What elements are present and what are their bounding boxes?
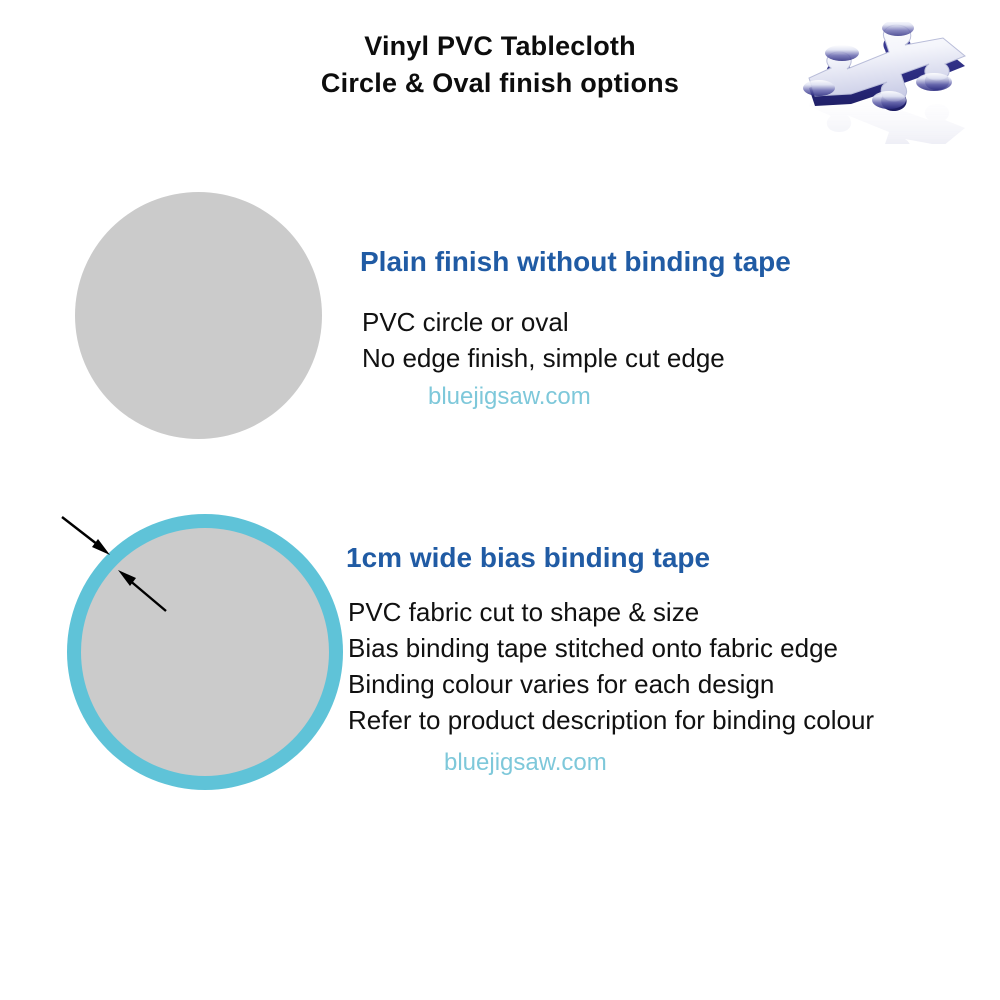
watermark-bluejigsaw-binding: bluejigsaw.com	[444, 748, 874, 778]
section-binding-body-line-1: PVC fabric cut to shape & size	[348, 594, 874, 630]
section-plain-body-line-1: PVC circle or oval	[362, 304, 791, 340]
puzzle-knob-bottom-left	[872, 91, 906, 109]
puzzle-knob-bottom-right	[916, 73, 952, 91]
section-binding-body-line-3: Binding colour varies for each design	[348, 666, 874, 702]
section-bias-binding: 1cm wide bias binding tape PVC fabric cu…	[344, 542, 874, 778]
section-plain-body: PVC circle or oval No edge finish, simpl…	[362, 304, 791, 376]
section-binding-body: PVC fabric cut to shape & size Bias bind…	[348, 594, 874, 738]
poster-canvas: Vinyl PVC Tablecloth Circle & Oval finis…	[0, 0, 1000, 1000]
section-plain-finish: Plain finish without binding tape PVC ci…	[356, 246, 791, 412]
arrow-to-binding-tape	[62, 517, 110, 555]
puzzle-knob-left	[803, 80, 835, 96]
arrow-to-fabric-edge	[118, 570, 166, 611]
puzzle-piece-icon	[793, 22, 981, 144]
watermark-bluejigsaw-plain: bluejigsaw.com	[428, 382, 791, 412]
puzzle-knob-top-left	[825, 45, 859, 61]
bluejigsaw-puzzle-piece-logo	[793, 22, 981, 144]
plain-circle-swatch	[75, 192, 322, 439]
binding-annotation-arrows	[40, 495, 230, 655]
section-plain-heading: Plain finish without binding tape	[360, 246, 791, 278]
section-binding-body-line-2: Bias binding tape stitched onto fabric e…	[348, 630, 874, 666]
section-binding-body-line-4: Refer to product description for binding…	[348, 702, 874, 738]
section-binding-heading: 1cm wide bias binding tape	[346, 542, 874, 574]
section-plain-body-line-2: No edge finish, simple cut edge	[362, 340, 791, 376]
